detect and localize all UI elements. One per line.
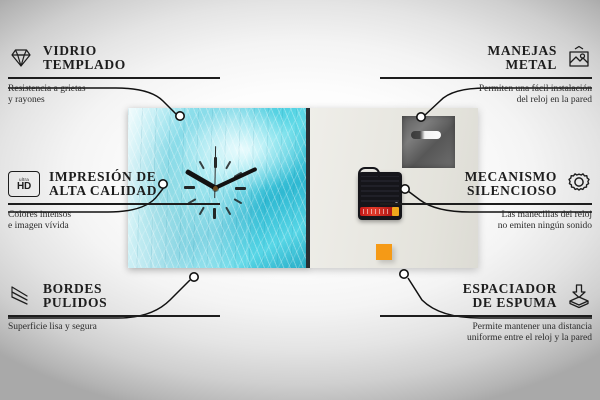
connector-endpoint-bordes — [190, 273, 198, 281]
divider — [8, 203, 220, 205]
foam-spacer-icon — [566, 283, 592, 309]
feature-mecanismo-silencioso: MECANISMO SILENCIOSO Las manecillas del … — [380, 170, 592, 233]
feature-vidrio-templado: VIDRIO TEMPLADO Resistencia a grietas y … — [8, 44, 220, 107]
wall-hanger-icon — [566, 45, 592, 71]
feature-header: MECANISMO SILENCIOSO — [380, 170, 592, 198]
infographic-canvas: VIDRIO TEMPLADO Resistencia a grietas y … — [0, 0, 600, 400]
polished-edges-icon — [8, 283, 34, 309]
feature-title: MANEJAS METAL — [488, 44, 557, 72]
divider — [380, 77, 592, 79]
feature-description: Permite mantener una distancia uniforme … — [380, 322, 592, 345]
feature-title: BORDES PULIDOS — [43, 282, 107, 310]
feature-header: BORDES PULIDOS — [8, 282, 220, 310]
divider — [8, 77, 220, 79]
feature-bordes-pulidos: BORDES PULIDOS Superficie lisa y segura — [8, 282, 220, 333]
diamond-icon — [8, 45, 34, 71]
divider — [380, 315, 592, 317]
mechanism-hanger-lug — [358, 167, 380, 179]
feature-header: ESPACIADOR DE ESPUMA — [380, 282, 592, 310]
feature-title: IMPRESIÓN DE ALTA CALIDAD — [49, 170, 157, 198]
hanger-slot — [411, 131, 441, 139]
feature-manejas-metal: MANEJAS METAL Permiten una fácil instala… — [380, 44, 592, 107]
feature-description: Superficie lisa y segura — [8, 322, 220, 334]
feature-header: VIDRIO TEMPLADO — [8, 44, 220, 72]
feature-header: ultra HD IMPRESIÓN DE ALTA CALIDAD — [8, 170, 220, 198]
feature-espaciador-espuma: ESPACIADOR DE ESPUMA Permite mantener un… — [380, 282, 592, 345]
metal-hanger-plate — [402, 116, 455, 168]
foam-spacer — [376, 244, 392, 260]
feature-header: MANEJAS METAL — [380, 44, 592, 72]
gear-icon — [566, 171, 592, 197]
divider — [8, 315, 220, 317]
feature-title: ESPACIADOR DE ESPUMA — [463, 282, 557, 310]
feature-title: MECANISMO SILENCIOSO — [465, 170, 557, 198]
feature-description: Permiten una fácil instalación del reloj… — [380, 84, 592, 107]
feature-impresion-alta-calidad: ultra HD IMPRESIÓN DE ALTA CALIDAD Color… — [8, 170, 220, 233]
divider — [380, 203, 592, 205]
feature-description: Resistencia a grietas y rayones — [8, 84, 220, 107]
feature-description: Las manecillas del reloj no emiten ningú… — [380, 210, 592, 233]
feature-title: VIDRIO TEMPLADO — [43, 44, 126, 72]
feature-description: Colores intensos e imagen vívida — [8, 210, 220, 233]
ultra-hd-icon: ultra HD — [8, 171, 40, 197]
